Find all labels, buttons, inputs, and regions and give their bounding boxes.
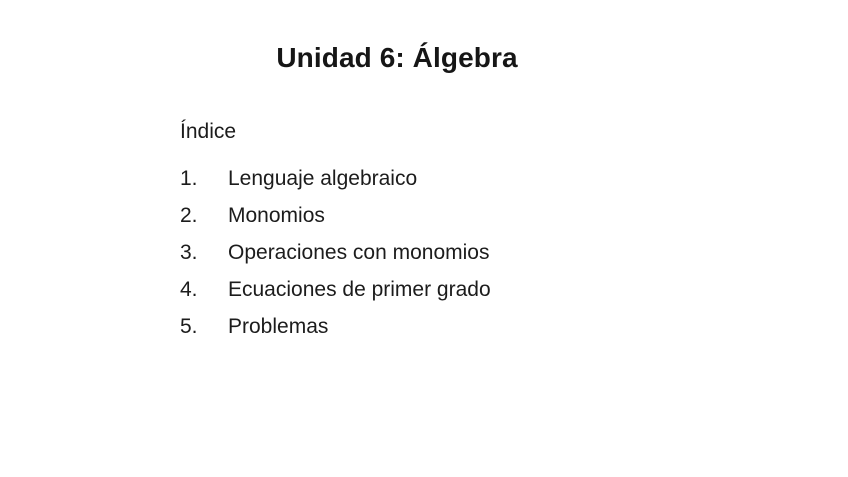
list-item-number: 1.: [180, 168, 228, 189]
list-item[interactable]: 5. Problemas: [180, 316, 780, 353]
list-item-number: 5.: [180, 316, 228, 337]
list-item-number: 2.: [180, 205, 228, 226]
list-item[interactable]: 3. Operaciones con monomios: [180, 242, 780, 279]
slide-content-body: Índice 1. Lenguaje algebraico 2. Monomio…: [180, 118, 780, 353]
list-item-label: Operaciones con monomios: [228, 242, 489, 263]
list-item[interactable]: 4. Ecuaciones de primer grado: [180, 279, 780, 316]
list-item-number: 4.: [180, 279, 228, 300]
slide-canvas: Unidad 6: Álgebra Índice 1. Lenguaje alg…: [0, 0, 848, 477]
list-item[interactable]: 2. Monomios: [180, 205, 780, 242]
index-list: 1. Lenguaje algebraico 2. Monomios 3. Op…: [180, 168, 780, 353]
list-item-label: Lenguaje algebraico: [228, 168, 417, 189]
list-item-label: Ecuaciones de primer grado: [228, 279, 491, 300]
list-item-number: 3.: [180, 242, 228, 263]
list-item-label: Monomios: [228, 205, 325, 226]
page-title: Unidad 6: Álgebra: [180, 40, 614, 75]
list-item[interactable]: 1. Lenguaje algebraico: [180, 168, 780, 205]
section-heading-indice: Índice: [180, 118, 780, 146]
list-item-label: Problemas: [228, 316, 328, 337]
